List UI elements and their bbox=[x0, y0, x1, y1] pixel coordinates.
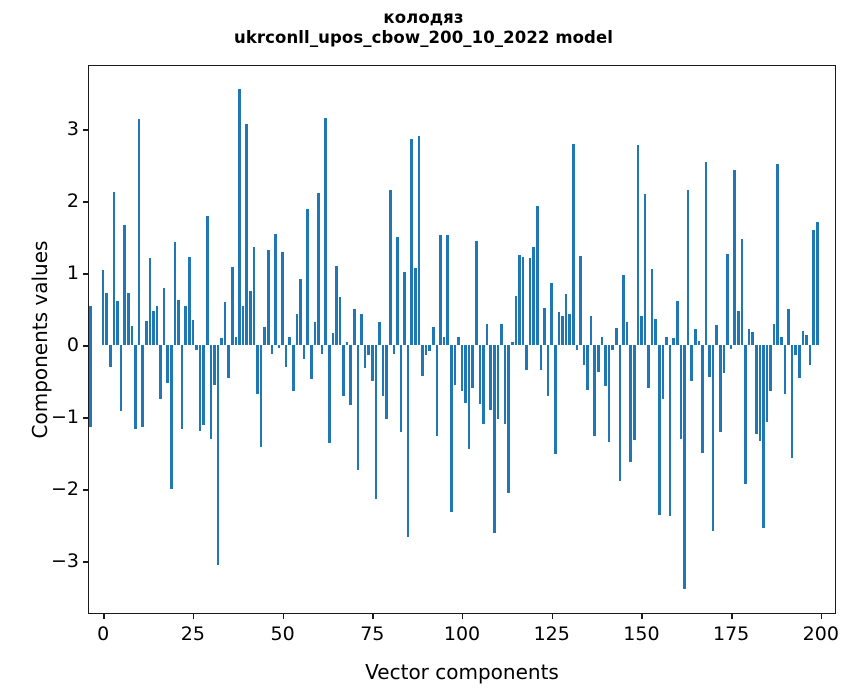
bar bbox=[597, 345, 600, 372]
bar bbox=[780, 337, 783, 346]
x-tick-mark bbox=[641, 613, 642, 619]
x-tick-label: 75 bbox=[360, 623, 384, 645]
x-tick-mark bbox=[372, 613, 373, 619]
x-tick-mark bbox=[283, 613, 284, 619]
bar bbox=[342, 345, 345, 396]
bar bbox=[601, 337, 604, 345]
y-tick-mark bbox=[83, 201, 89, 202]
chart-title: колодяз ukrconll_upos_cbow_200_10_2022 m… bbox=[0, 8, 847, 48]
bar bbox=[242, 306, 245, 346]
bar bbox=[299, 279, 302, 345]
bar bbox=[281, 252, 284, 346]
bar bbox=[403, 272, 406, 345]
bar bbox=[152, 311, 155, 346]
x-tick-mark bbox=[731, 613, 732, 619]
bar bbox=[328, 345, 331, 443]
bar bbox=[332, 333, 335, 345]
bar bbox=[346, 342, 349, 346]
bar bbox=[540, 345, 543, 370]
bar bbox=[608, 345, 611, 441]
bar bbox=[425, 345, 428, 354]
bar bbox=[543, 308, 546, 345]
bar bbox=[676, 301, 679, 345]
bar bbox=[454, 345, 457, 385]
bar bbox=[263, 327, 266, 345]
bar bbox=[586, 345, 589, 390]
bar bbox=[683, 345, 686, 589]
bar bbox=[733, 170, 736, 345]
bar bbox=[217, 345, 220, 565]
bar bbox=[134, 345, 137, 429]
bar bbox=[159, 345, 162, 398]
bar bbox=[561, 316, 564, 345]
bar bbox=[680, 345, 683, 439]
x-tick-mark bbox=[552, 613, 553, 619]
bar bbox=[579, 256, 582, 345]
bar bbox=[536, 206, 539, 345]
bar bbox=[497, 345, 500, 419]
bar bbox=[705, 162, 708, 345]
bar bbox=[809, 345, 812, 365]
chart-title-line-2: ukrconll_upos_cbow_200_10_2022 model bbox=[0, 28, 847, 48]
bar bbox=[235, 337, 238, 346]
x-tick-label: 200 bbox=[803, 623, 839, 645]
bar bbox=[339, 297, 342, 345]
bar bbox=[611, 345, 614, 349]
bar bbox=[296, 314, 299, 346]
bar bbox=[220, 338, 223, 345]
bar bbox=[353, 309, 356, 345]
bar bbox=[210, 345, 213, 439]
bar bbox=[166, 345, 169, 382]
bar bbox=[224, 302, 227, 345]
bar bbox=[461, 345, 464, 390]
bar bbox=[629, 345, 632, 462]
bar bbox=[633, 345, 636, 439]
bar bbox=[432, 327, 435, 346]
bar bbox=[310, 345, 313, 379]
x-tick-mark bbox=[462, 613, 463, 619]
bar bbox=[375, 345, 378, 499]
bar bbox=[321, 345, 324, 354]
bar bbox=[529, 258, 532, 345]
x-tick-mark bbox=[821, 613, 822, 619]
bar bbox=[385, 345, 388, 418]
bar bbox=[274, 234, 277, 346]
bar bbox=[489, 345, 492, 410]
bar bbox=[500, 324, 503, 345]
bar bbox=[389, 190, 392, 345]
bar bbox=[113, 192, 116, 345]
bar bbox=[141, 345, 144, 427]
bar bbox=[558, 312, 561, 345]
bar bbox=[626, 322, 629, 345]
y-tick-label: 2 bbox=[67, 190, 79, 212]
bar bbox=[288, 337, 291, 346]
bar bbox=[644, 194, 647, 345]
y-axis-label: Components values bbox=[28, 65, 56, 614]
bar bbox=[744, 345, 747, 484]
bar bbox=[593, 345, 596, 436]
bar bbox=[719, 345, 722, 431]
bar bbox=[396, 237, 399, 345]
bar bbox=[723, 345, 726, 373]
bar bbox=[748, 329, 751, 346]
bar bbox=[446, 235, 449, 345]
bar bbox=[116, 301, 119, 346]
y-tick-mark bbox=[83, 129, 89, 130]
bar bbox=[245, 124, 248, 345]
bar bbox=[762, 345, 765, 528]
bar bbox=[726, 254, 729, 345]
bar bbox=[206, 216, 209, 346]
bar bbox=[640, 316, 643, 345]
plot-axes: −3−2−10123 0255075100125150175200 bbox=[88, 65, 836, 614]
bar bbox=[665, 337, 668, 346]
bar bbox=[436, 345, 439, 436]
x-tick-mark bbox=[193, 613, 194, 619]
bar-series bbox=[89, 66, 835, 613]
bar bbox=[260, 345, 263, 446]
bar bbox=[317, 193, 320, 345]
bar bbox=[701, 345, 704, 453]
bar bbox=[170, 345, 173, 489]
bar bbox=[471, 345, 474, 387]
bar bbox=[145, 321, 148, 345]
bar bbox=[410, 139, 413, 345]
bar bbox=[199, 345, 202, 431]
bar bbox=[773, 324, 776, 346]
bar bbox=[805, 335, 808, 345]
bar bbox=[464, 345, 467, 403]
bar bbox=[622, 275, 625, 346]
bar bbox=[457, 337, 460, 345]
bar bbox=[669, 345, 672, 516]
bar bbox=[450, 345, 453, 511]
bar bbox=[177, 300, 180, 345]
bar bbox=[213, 345, 216, 385]
bar bbox=[812, 230, 815, 345]
bar bbox=[324, 118, 327, 345]
chart-title-line-1: колодяз bbox=[0, 8, 847, 28]
bar bbox=[741, 239, 744, 345]
bar bbox=[393, 345, 396, 354]
bar bbox=[428, 345, 431, 351]
bar bbox=[550, 283, 553, 345]
bar bbox=[662, 345, 665, 399]
bar bbox=[486, 324, 489, 346]
x-tick-label: 125 bbox=[534, 623, 570, 645]
bar bbox=[195, 345, 198, 349]
bar bbox=[149, 258, 152, 345]
bar bbox=[188, 257, 191, 345]
bar bbox=[590, 316, 593, 345]
bar bbox=[367, 345, 370, 354]
bar bbox=[698, 341, 701, 345]
bar bbox=[400, 345, 403, 431]
bar bbox=[468, 345, 471, 449]
bar bbox=[572, 144, 575, 346]
bar bbox=[504, 345, 507, 423]
bar bbox=[615, 328, 618, 345]
bar bbox=[256, 345, 259, 394]
bar bbox=[267, 250, 270, 346]
bar bbox=[238, 89, 241, 345]
bar bbox=[163, 288, 166, 346]
bar bbox=[421, 345, 424, 376]
bar bbox=[127, 293, 130, 345]
bar bbox=[271, 345, 274, 354]
bar bbox=[816, 222, 819, 345]
bar bbox=[371, 345, 374, 381]
bar bbox=[131, 326, 134, 345]
bar bbox=[708, 345, 711, 377]
bar bbox=[306, 209, 309, 345]
bar bbox=[784, 345, 787, 394]
bar bbox=[156, 306, 159, 346]
bar bbox=[568, 314, 571, 345]
x-tick-label: 100 bbox=[444, 623, 480, 645]
bar bbox=[690, 345, 693, 380]
bar bbox=[407, 345, 410, 537]
bar bbox=[766, 345, 769, 422]
bar bbox=[382, 345, 385, 396]
bar bbox=[776, 164, 779, 345]
bar bbox=[123, 225, 126, 345]
bar bbox=[184, 306, 187, 346]
bar bbox=[181, 345, 184, 428]
x-tick-label: 175 bbox=[713, 623, 749, 645]
bar bbox=[730, 345, 733, 349]
bar bbox=[109, 345, 112, 367]
bar bbox=[694, 329, 697, 345]
bar bbox=[518, 255, 521, 345]
bar bbox=[493, 345, 496, 533]
bar bbox=[522, 257, 525, 345]
bar bbox=[249, 291, 252, 346]
bar bbox=[138, 119, 141, 345]
bar bbox=[651, 269, 654, 345]
bar bbox=[798, 345, 801, 377]
bar bbox=[278, 345, 281, 348]
bar bbox=[479, 345, 482, 403]
y-tick-mark bbox=[83, 489, 89, 490]
bar bbox=[378, 322, 381, 345]
bar bbox=[547, 345, 550, 395]
bar bbox=[475, 241, 478, 345]
bar bbox=[357, 345, 360, 470]
bar bbox=[89, 309, 92, 346]
bar bbox=[647, 345, 650, 387]
bar bbox=[672, 338, 675, 345]
bar bbox=[532, 247, 535, 346]
bar bbox=[360, 314, 363, 345]
y-tick-label: 1 bbox=[67, 262, 79, 284]
matplotlib-figure: колодяз ukrconll_upos_cbow_200_10_2022 m… bbox=[0, 0, 847, 696]
bar bbox=[583, 345, 586, 364]
bar bbox=[335, 266, 338, 345]
bar bbox=[687, 190, 690, 345]
bar bbox=[619, 345, 622, 480]
bar bbox=[554, 345, 557, 454]
y-tick-label: 0 bbox=[67, 334, 79, 356]
bar bbox=[791, 345, 794, 457]
bar bbox=[751, 332, 754, 345]
bar bbox=[202, 345, 205, 425]
bar bbox=[794, 345, 797, 355]
bar bbox=[658, 345, 661, 515]
bar bbox=[314, 322, 317, 345]
x-tick-label: 50 bbox=[270, 623, 294, 645]
bar bbox=[576, 345, 579, 350]
bar bbox=[604, 345, 607, 385]
bar bbox=[120, 345, 123, 411]
bar bbox=[303, 345, 306, 359]
bar bbox=[769, 345, 772, 390]
bar bbox=[737, 311, 740, 345]
bar bbox=[637, 145, 640, 345]
bar bbox=[414, 268, 417, 346]
bar bbox=[802, 331, 805, 345]
bar bbox=[418, 136, 421, 345]
bar bbox=[174, 242, 177, 345]
bar bbox=[759, 345, 762, 441]
x-tick-label: 0 bbox=[97, 623, 109, 645]
bar bbox=[227, 345, 230, 378]
bar bbox=[525, 345, 528, 370]
x-tick-mark bbox=[103, 613, 104, 619]
bar bbox=[511, 342, 514, 346]
bar bbox=[715, 325, 718, 345]
bar bbox=[349, 345, 352, 405]
y-tick-mark bbox=[83, 273, 89, 274]
bar bbox=[231, 267, 234, 345]
bar bbox=[102, 270, 105, 345]
x-tick-label: 25 bbox=[181, 623, 205, 645]
bar bbox=[192, 320, 195, 345]
bar bbox=[712, 345, 715, 531]
y-tick-mark bbox=[83, 417, 89, 418]
bar bbox=[253, 247, 256, 346]
bar bbox=[89, 345, 92, 427]
bar bbox=[364, 345, 367, 367]
bar bbox=[565, 294, 568, 345]
bar bbox=[515, 296, 518, 345]
y-tick-mark bbox=[83, 345, 89, 346]
bar bbox=[439, 235, 442, 345]
bar bbox=[755, 345, 758, 434]
bar bbox=[292, 345, 295, 391]
bar bbox=[654, 319, 657, 346]
bar bbox=[443, 337, 446, 345]
bar bbox=[507, 345, 510, 493]
bar bbox=[482, 345, 485, 424]
x-tick-label: 150 bbox=[623, 623, 659, 645]
bar bbox=[787, 309, 790, 346]
x-axis-label: Vector components bbox=[88, 660, 836, 684]
bar bbox=[285, 345, 288, 367]
y-tick-mark bbox=[83, 561, 89, 562]
bar bbox=[105, 293, 108, 345]
y-tick-label: 3 bbox=[67, 118, 79, 140]
